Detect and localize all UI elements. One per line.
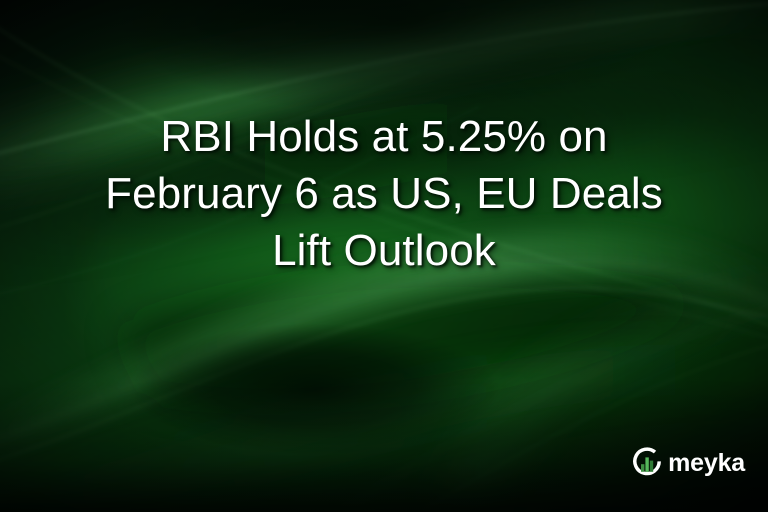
headline-block: RBI Holds at 5.25% on February 6 as US, … <box>0 108 768 279</box>
ring-bar-chart-icon <box>630 446 664 480</box>
logo-wordmark: meyka <box>668 451 745 476</box>
headline-line-3: Lift Outlook <box>34 222 734 279</box>
news-card: RBI Holds at 5.25% on February 6 as US, … <box>0 0 768 512</box>
logo-bar-left <box>641 464 644 472</box>
headline-line-1: RBI Holds at 5.25% on <box>34 108 734 165</box>
logo-bar-right <box>650 461 653 472</box>
logo-bar-middle <box>646 457 649 471</box>
headline-line-2: February 6 as US, EU Deals <box>34 165 734 222</box>
meyka-logo[interactable]: meyka <box>630 446 745 480</box>
